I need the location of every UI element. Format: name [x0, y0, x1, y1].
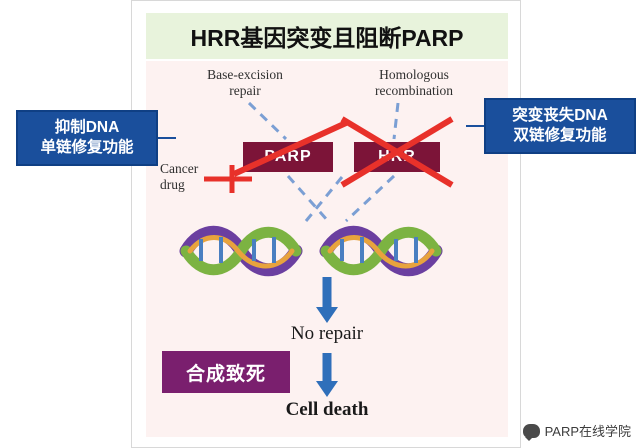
label-cancer-drug: Cancer drug — [160, 161, 230, 193]
diagram-body: Base-excision repair Homologous recombin… — [146, 61, 508, 437]
callout-right-line1: 突变丧失DNA — [512, 106, 608, 126]
label-homologous-line2: recombination — [334, 83, 494, 99]
arrow-to-cell-death — [316, 353, 338, 397]
callout-right-line2: 双链修复功能 — [513, 126, 606, 146]
callout-left-line2: 单链修复功能 — [40, 138, 133, 158]
synthetic-lethal-label: 合成致死 — [186, 359, 266, 386]
synthetic-lethal-box: 合成致死 — [162, 351, 290, 393]
label-base-excision-line2: repair — [170, 83, 320, 99]
label-no-repair: No repair — [146, 323, 508, 345]
gene-box-hrr: HRR — [354, 142, 440, 172]
label-base-excision-repair: Base-excision repair — [170, 67, 320, 99]
wechat-icon — [523, 424, 540, 438]
label-cancer-drug-line2: drug — [160, 177, 230, 193]
title-banner: HRR基因突变且阻断PARP — [146, 13, 508, 59]
callout-left: 抑制DNA 单链修复功能 — [16, 110, 158, 166]
gene-box-hrr-label: HRR — [378, 148, 416, 166]
label-homologous-recombination: Homologous recombination — [334, 67, 494, 99]
callout-right: 突变丧失DNA 双链修复功能 — [484, 98, 636, 154]
callout-right-connector — [466, 125, 486, 127]
gene-box-parp: PARP — [243, 142, 333, 172]
page-title: HRR基因突变且阻断PARP — [190, 19, 463, 53]
arrow-to-no-repair — [316, 277, 338, 323]
footer-watermark-text: PARP在线学院 — [545, 421, 631, 440]
diagram-panel: HRR基因突变且阻断PARP Base-excision repair Homo… — [131, 0, 521, 448]
label-cancer-drug-line1: Cancer — [160, 161, 230, 177]
gene-box-parp-label: PARP — [264, 148, 311, 166]
label-cell-death: Cell death — [146, 399, 508, 421]
dna-helix-right — [326, 232, 436, 270]
dna-helix-left — [186, 232, 296, 270]
callout-left-line1: 抑制DNA — [55, 118, 120, 138]
callout-left-connector — [158, 137, 176, 139]
footer-watermark: PARP在线学院 — [523, 421, 631, 440]
label-base-excision-line1: Base-excision — [170, 67, 320, 83]
label-homologous-line1: Homologous — [334, 67, 494, 83]
